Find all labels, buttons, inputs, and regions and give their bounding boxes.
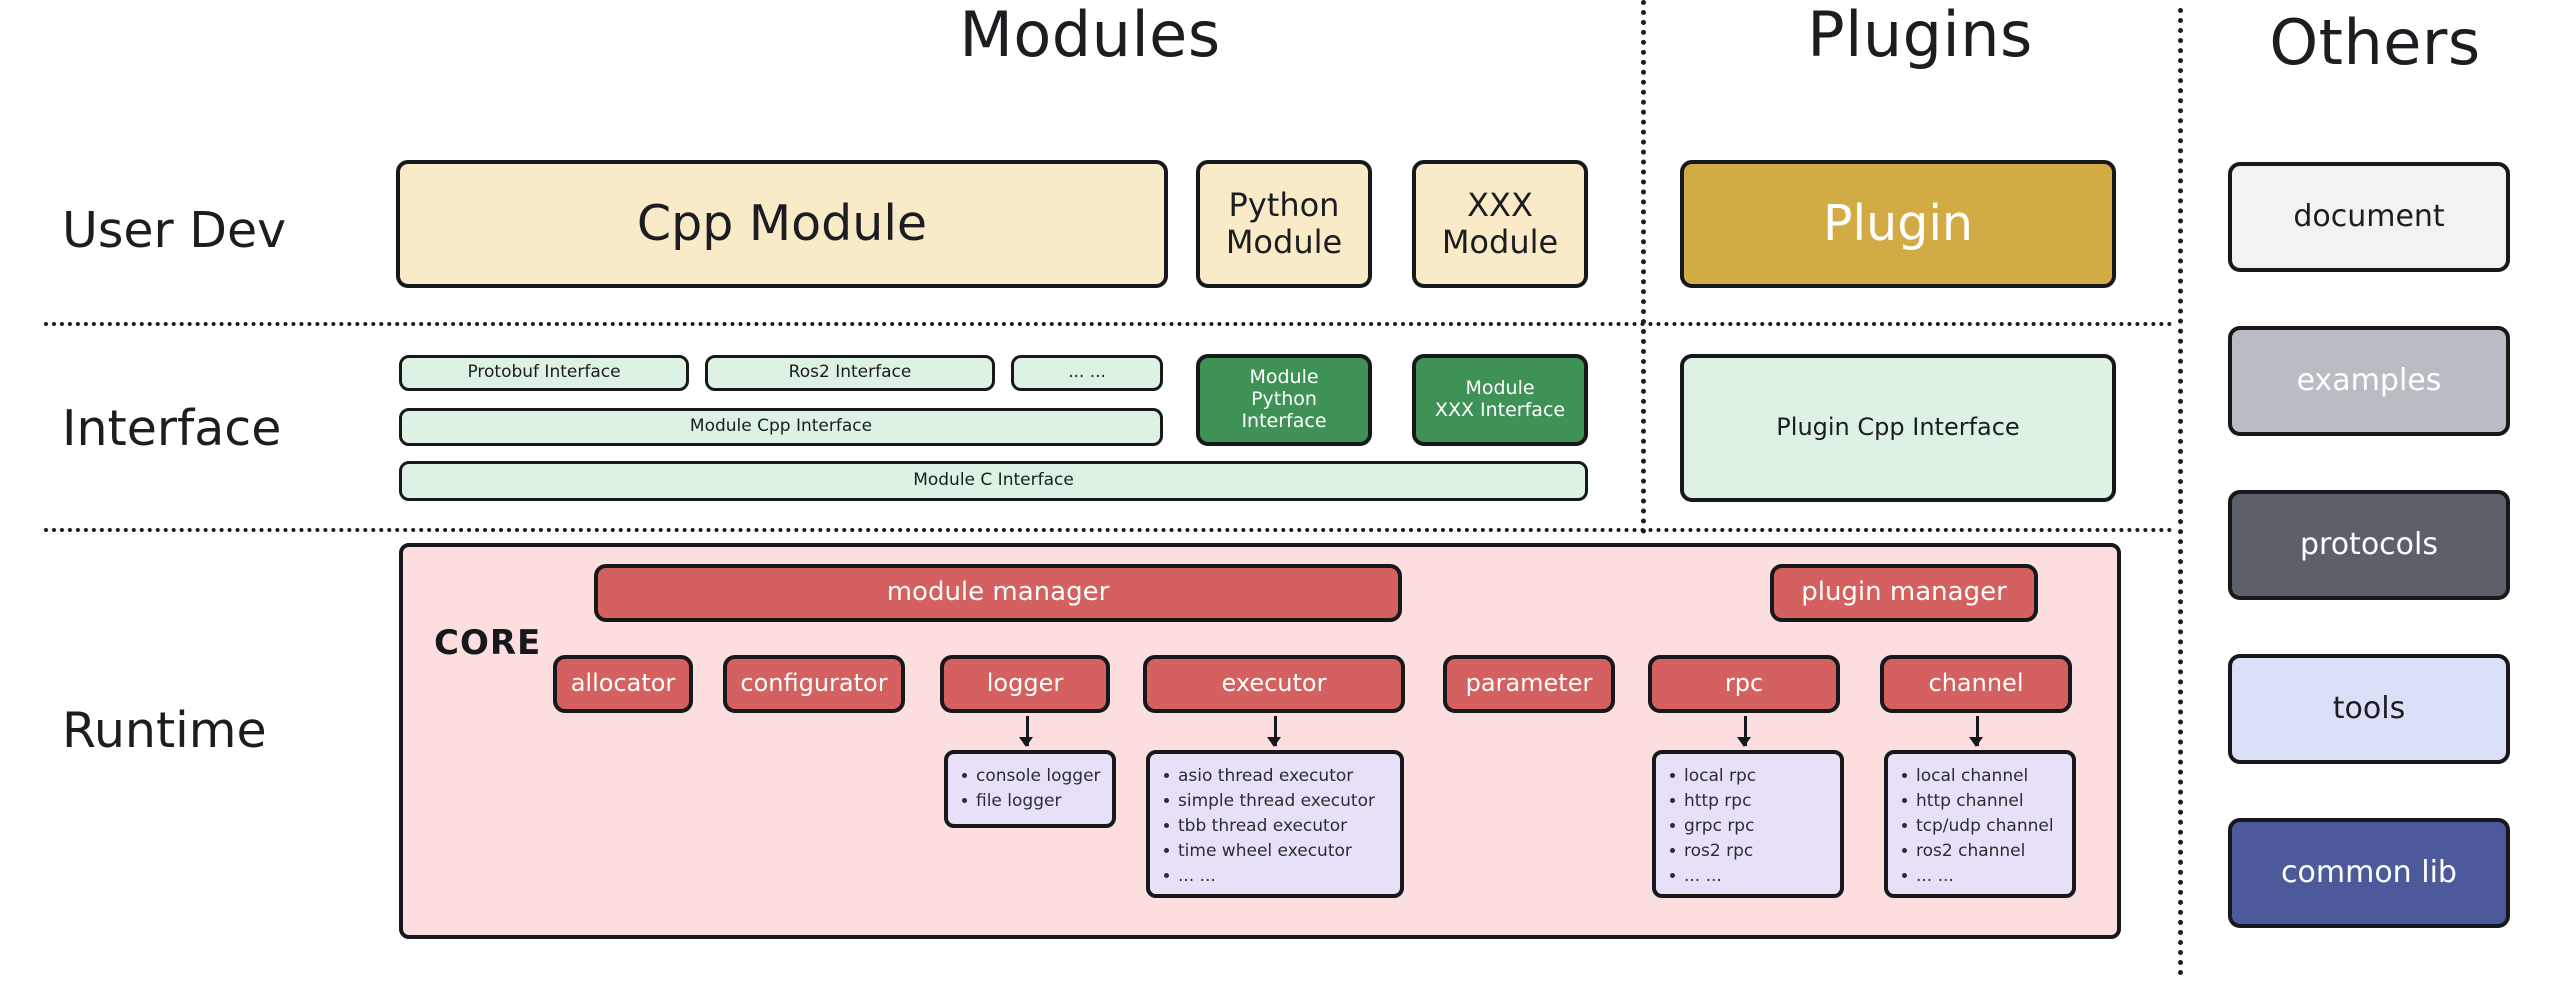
- others-examples-box[interactable]: examples: [2228, 326, 2510, 436]
- allocator-box[interactable]: allocator: [553, 655, 693, 713]
- separator-plugins-others: [2178, 8, 2183, 976]
- others-common-lib-box[interactable]: common lib: [2228, 818, 2510, 928]
- list-item: file logger: [976, 789, 1104, 814]
- list-item: ros2 channel: [1916, 839, 2064, 864]
- module-python-interface-line2: Python Interface: [1206, 389, 1362, 433]
- list-item: time wheel executor: [1178, 839, 1392, 864]
- module-c-interface-box[interactable]: Module C Interface: [399, 461, 1588, 501]
- list-item: ... ...: [1684, 864, 1832, 889]
- xxx-module-label-line1: XXX: [1467, 187, 1533, 224]
- core-label: CORE: [434, 623, 541, 663]
- row-label-user-dev: User Dev: [62, 206, 286, 255]
- logger-box[interactable]: logger: [940, 655, 1110, 713]
- list-item: http channel: [1916, 789, 2064, 814]
- row-label-interface: Interface: [62, 404, 281, 453]
- rpc-box[interactable]: rpc: [1648, 655, 1840, 713]
- list-item: grpc rpc: [1684, 814, 1832, 839]
- list-item: asio thread executor: [1178, 764, 1392, 789]
- module-python-interface-line1: Module: [1249, 367, 1318, 389]
- module-xxx-interface-line1: Module: [1465, 378, 1534, 400]
- python-module-label-line2: Module: [1226, 224, 1342, 261]
- configurator-box[interactable]: configurator: [723, 655, 905, 713]
- column-title-others: Others: [2215, 12, 2535, 74]
- xxx-module-box[interactable]: XXX Module: [1412, 160, 1588, 288]
- plugin-cpp-interface-box[interactable]: Plugin Cpp Interface: [1680, 354, 2116, 502]
- list-item: ros2 rpc: [1684, 839, 1832, 864]
- logger-details-list: console logger file logger: [958, 764, 1104, 814]
- row-label-runtime: Runtime: [62, 706, 267, 755]
- separator-interface-runtime: [44, 528, 2174, 532]
- python-module-label-line1: Python: [1229, 187, 1340, 224]
- cpp-module-box[interactable]: Cpp Module: [396, 160, 1168, 288]
- channel-details-list: local channel http channel tcp/udp chann…: [1898, 764, 2064, 889]
- extra-interface-box[interactable]: ... ...: [1011, 355, 1163, 391]
- separator-userdev-interface: [44, 322, 2174, 326]
- architecture-diagram: Modules Plugins Others User Dev Interfac…: [0, 0, 2560, 984]
- list-item: console logger: [976, 764, 1104, 789]
- executor-details-list: asio thread executor simple thread execu…: [1160, 764, 1392, 889]
- list-item: tbb thread executor: [1178, 814, 1392, 839]
- module-xxx-interface-line2: XXX Interface: [1435, 400, 1565, 422]
- list-item: tcp/udp channel: [1916, 814, 2064, 839]
- list-item: local rpc: [1684, 764, 1832, 789]
- xxx-module-label-line2: Module: [1442, 224, 1558, 261]
- list-item: http rpc: [1684, 789, 1832, 814]
- rpc-details-list: local rpc http rpc grpc rpc ros2 rpc ...…: [1666, 764, 1832, 889]
- list-item: ... ...: [1916, 864, 2064, 889]
- module-python-interface-box[interactable]: Module Python Interface: [1196, 354, 1372, 446]
- python-module-box[interactable]: Python Module: [1196, 160, 1372, 288]
- module-manager-box[interactable]: module manager: [594, 564, 1402, 622]
- executor-box[interactable]: executor: [1143, 655, 1405, 713]
- parameter-box[interactable]: parameter: [1443, 655, 1615, 713]
- plugin-manager-box[interactable]: plugin manager: [1770, 564, 2038, 622]
- separator-modules-plugins: [1641, 0, 1646, 534]
- list-item: local channel: [1916, 764, 2064, 789]
- rpc-arrow-icon: [1736, 716, 1752, 746]
- channel-arrow-icon: [1968, 716, 1984, 746]
- list-item: ... ...: [1178, 864, 1392, 889]
- logger-details-box: console logger file logger: [944, 750, 1116, 828]
- executor-arrow-icon: [1266, 716, 1282, 746]
- plugin-box[interactable]: Plugin: [1680, 160, 2116, 288]
- channel-details-box: local channel http channel tcp/udp chann…: [1884, 750, 2076, 898]
- executor-details-box: asio thread executor simple thread execu…: [1146, 750, 1404, 898]
- column-title-plugins: Plugins: [1720, 4, 2120, 66]
- ros2-interface-box[interactable]: Ros2 Interface: [705, 355, 995, 391]
- protobuf-interface-box[interactable]: Protobuf Interface: [399, 355, 689, 391]
- module-xxx-interface-box[interactable]: Module XXX Interface: [1412, 354, 1588, 446]
- others-document-box[interactable]: document: [2228, 162, 2510, 272]
- logger-arrow-icon: [1018, 716, 1034, 746]
- list-item: simple thread executor: [1178, 789, 1392, 814]
- module-cpp-interface-box[interactable]: Module Cpp Interface: [399, 408, 1163, 446]
- channel-box[interactable]: channel: [1880, 655, 2072, 713]
- others-tools-box[interactable]: tools: [2228, 654, 2510, 764]
- rpc-details-box: local rpc http rpc grpc rpc ros2 rpc ...…: [1652, 750, 1844, 898]
- column-title-modules: Modules: [880, 4, 1300, 66]
- others-protocols-box[interactable]: protocols: [2228, 490, 2510, 600]
